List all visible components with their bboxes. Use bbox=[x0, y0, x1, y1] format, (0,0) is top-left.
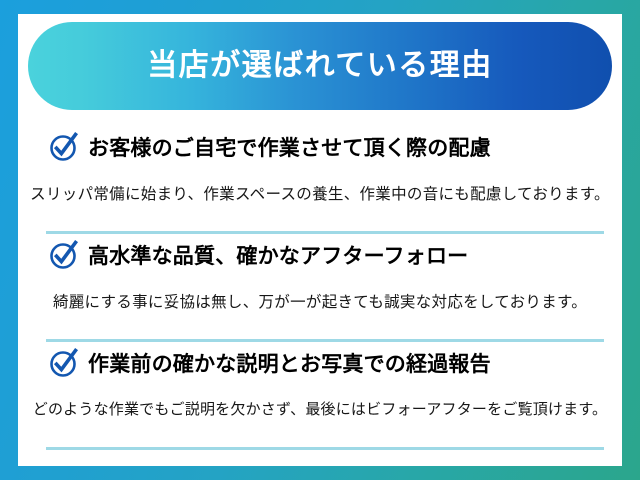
feature-title: お客様のご自宅で作業させて頂く際の配慮 bbox=[88, 138, 491, 159]
feature-title: 高水準な品質、確かなアフターフォロー bbox=[88, 246, 468, 267]
circled-check-icon bbox=[49, 348, 79, 378]
header-banner: 当店が選ばれている理由 bbox=[28, 22, 612, 110]
feature-description: スリッパ常備に始まり、作業スペースの養生、作業中の音にも配慮しております。 bbox=[18, 170, 622, 204]
page-title: 当店が選ばれている理由 bbox=[147, 51, 493, 81]
feature-title: 作業前の確かな説明とお写真での経過報告 bbox=[88, 354, 491, 375]
feature-item: 作業前の確かな説明とお写真での経過報告 どのような作業でもご説明を欠かさず、最後… bbox=[18, 342, 622, 450]
feature-description: 綺麗にする事に妥協は無し、万が一が起きても誠実な対応をしております。 bbox=[18, 278, 622, 312]
circled-check-icon bbox=[49, 132, 79, 162]
promo-graphic: 当店が選ばれている理由 お客様のご自宅で作業させて頂く際の配慮 スリッパ常備に始… bbox=[0, 0, 640, 480]
feature-list: お客様のご自宅で作業させて頂く際の配慮 スリッパ常備に始まり、作業スペースの養生… bbox=[18, 126, 622, 450]
feature-underline bbox=[46, 447, 604, 450]
feature-heading-row: 高水準な品質、確かなアフターフォロー bbox=[18, 234, 622, 278]
feature-heading-row: 作業前の確かな説明とお写真での経過報告 bbox=[18, 342, 622, 386]
feature-item: 高水準な品質、確かなアフターフォロー 綺麗にする事に妥協は無し、万が一が起きても… bbox=[18, 234, 622, 342]
feature-description: どのような作業でもご説明を欠かさず、最後にはビフォーアフターをご覧頂けます。 bbox=[18, 386, 622, 419]
white-content-card: 当店が選ばれている理由 お客様のご自宅で作業させて頂く際の配慮 スリッパ常備に始… bbox=[18, 14, 622, 466]
circled-check-icon bbox=[49, 240, 79, 270]
feature-heading-row: お客様のご自宅で作業させて頂く際の配慮 bbox=[18, 126, 622, 170]
feature-item: お客様のご自宅で作業させて頂く際の配慮 スリッパ常備に始まり、作業スペースの養生… bbox=[18, 126, 622, 234]
